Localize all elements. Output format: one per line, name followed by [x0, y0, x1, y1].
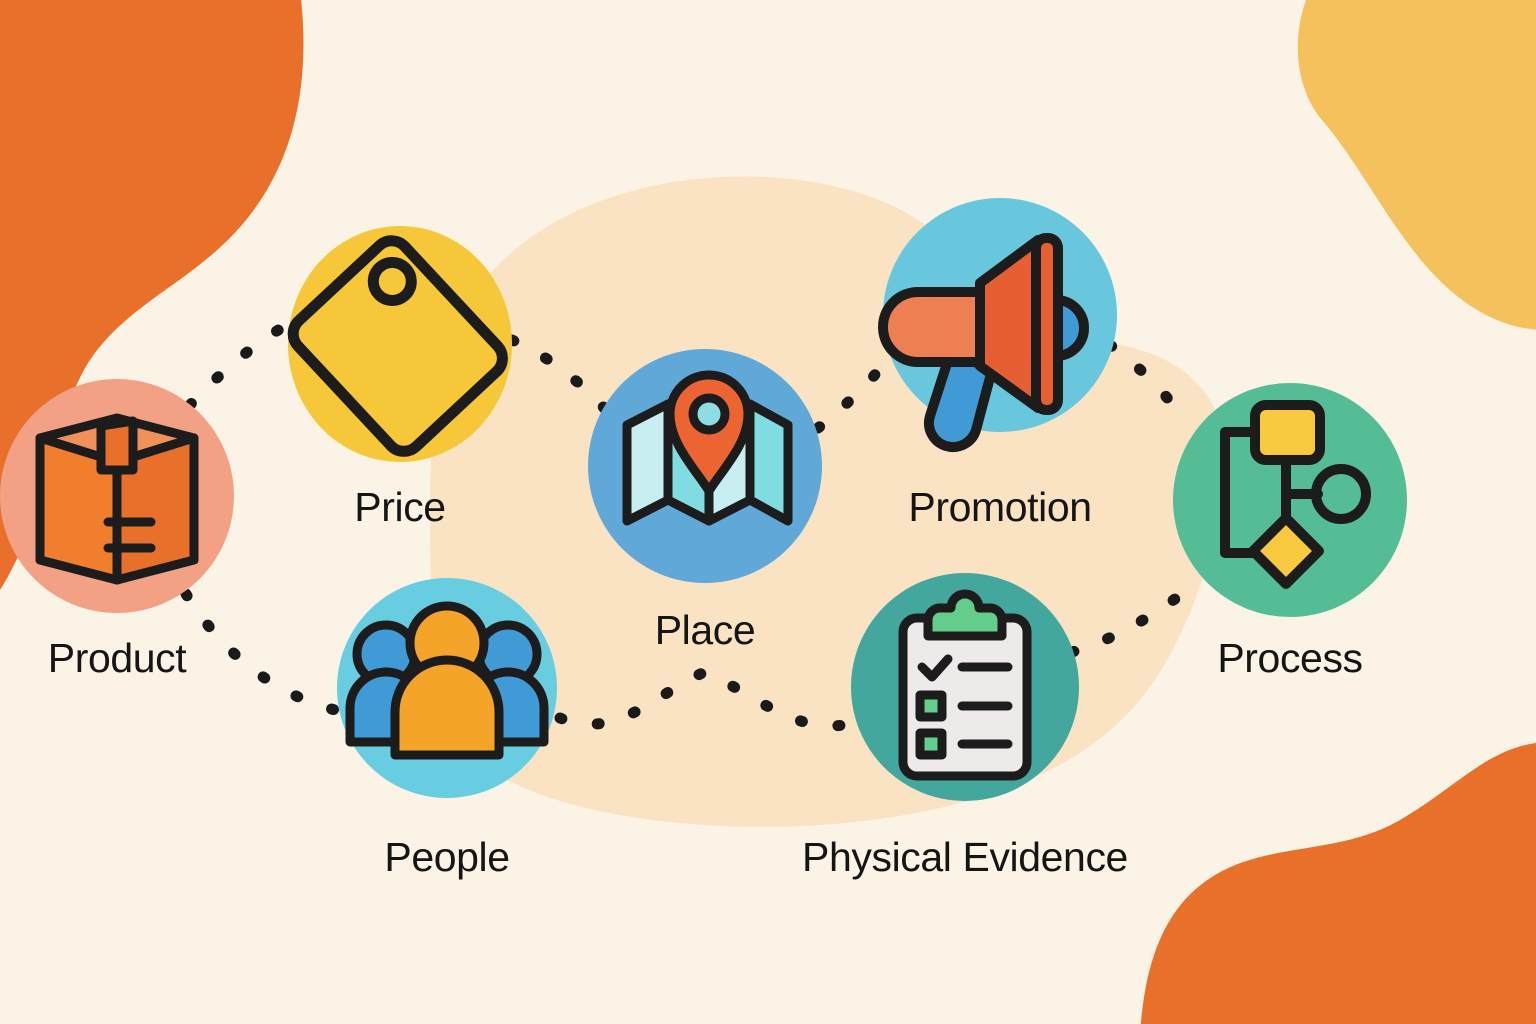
people-group-icon — [350, 606, 544, 755]
node-label-physical-evidence: Physical Evidence — [802, 837, 1128, 878]
node-label-process: Process — [1217, 638, 1362, 679]
node-label-place: Place — [655, 610, 756, 651]
node-product[interactable] — [0, 379, 234, 613]
node-label-promotion: Promotion — [908, 487, 1091, 528]
node-label-price: Price — [354, 487, 445, 528]
node-price[interactable] — [286, 226, 512, 462]
node-label-product: Product — [48, 638, 187, 679]
infographic-canvas: Product Price Place Promotion Process Pe… — [0, 0, 1536, 1024]
node-physical-evidence[interactable] — [851, 573, 1079, 801]
node-place[interactable] — [588, 349, 822, 583]
node-label-people: People — [384, 837, 509, 878]
node-promotion[interactable] — [883, 198, 1117, 447]
node-layer — [0, 0, 1536, 1024]
node-process[interactable] — [1173, 383, 1407, 617]
box-icon — [40, 418, 194, 580]
node-people[interactable] — [337, 578, 557, 798]
clipboard-checklist-icon — [903, 594, 1027, 776]
